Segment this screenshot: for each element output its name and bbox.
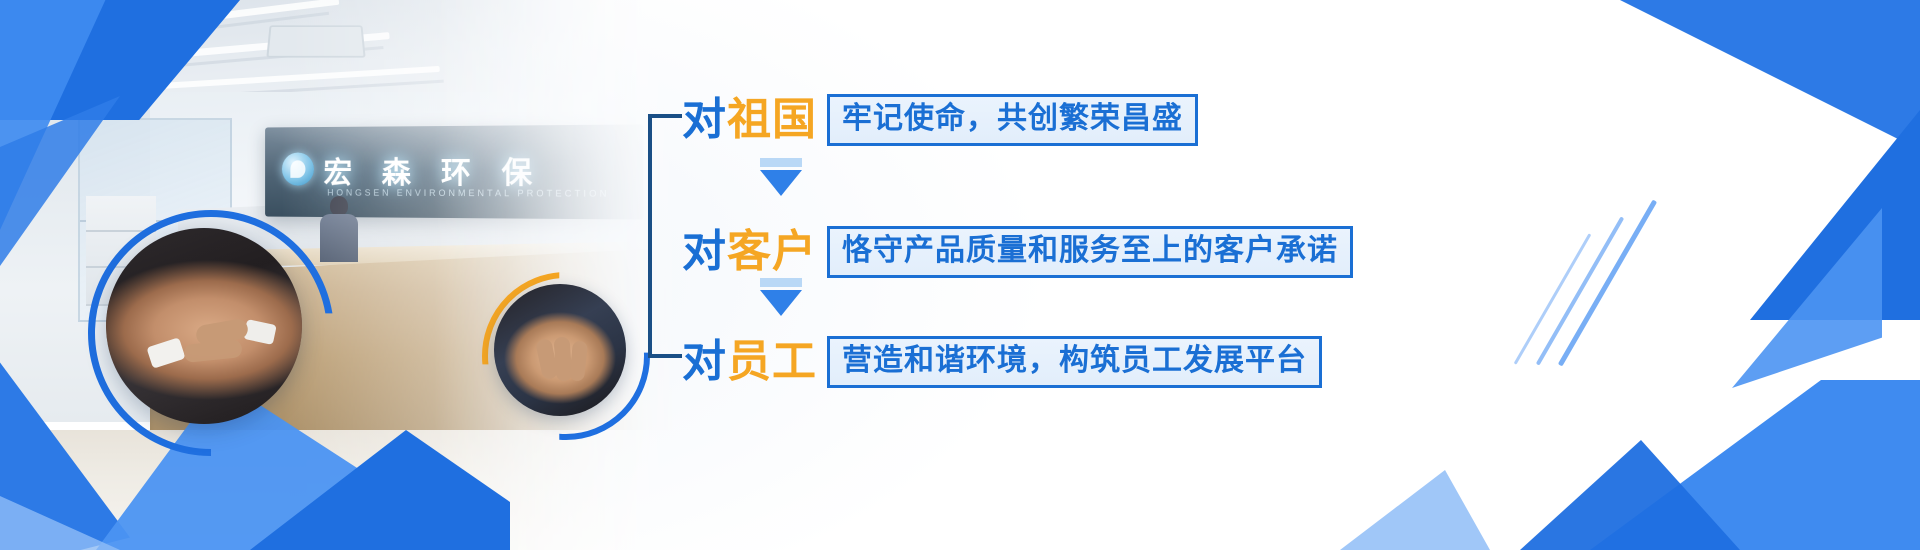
applause-image bbox=[494, 284, 626, 416]
hand-shape bbox=[184, 339, 244, 363]
row-lead-prefix: 对 bbox=[682, 226, 727, 277]
commitment-list: 对祖国 牢记使命，共创繁荣昌盛 对客户 恪守产品质量和服务至上的客户承诺 对员工… bbox=[648, 78, 1368, 394]
commitment-row-employee: 对员工 营造和谐环境，构筑员工发展平台 bbox=[682, 336, 1322, 388]
commitment-row-customer: 对客户 恪守产品质量和服务至上的客户承诺 bbox=[682, 226, 1353, 278]
row-lead-customer: 对客户 bbox=[682, 230, 817, 274]
chevron-down-arrow-cap-icon bbox=[760, 278, 802, 287]
corporate-culture-banner: 宏 森 环 保 HONGSEN ENVIRONMENTAL PROTECTION bbox=[0, 0, 1920, 550]
row-lead-subject: 员工 bbox=[727, 336, 817, 387]
shirt-cuff bbox=[147, 337, 186, 368]
row-lead-prefix: 对 bbox=[682, 336, 727, 387]
row-lead-subject: 祖国 bbox=[727, 94, 817, 145]
hand-shape bbox=[568, 340, 587, 381]
commitment-row-country: 对祖国 牢记使命，共创繁荣昌盛 bbox=[682, 94, 1198, 146]
row-statement-customer: 恪守产品质量和服务至上的客户承诺 bbox=[827, 226, 1353, 278]
row-statement-employee: 营造和谐环境，构筑员工发展平台 bbox=[827, 336, 1322, 388]
chevron-down-arrow-icon bbox=[760, 290, 802, 316]
shirt-cuff bbox=[243, 319, 277, 345]
left-bracket-connector-icon bbox=[648, 114, 682, 358]
handshake-photo bbox=[106, 228, 302, 424]
applause-photo bbox=[494, 284, 626, 416]
handshake-image bbox=[106, 228, 302, 424]
row-lead-employee: 对员工 bbox=[682, 340, 817, 384]
row-lead-country: 对祖国 bbox=[682, 98, 817, 142]
row-lead-prefix: 对 bbox=[682, 94, 727, 145]
row-lead-subject: 客户 bbox=[727, 226, 817, 277]
row-statement-country: 牢记使命，共创繁荣昌盛 bbox=[827, 94, 1198, 146]
chevron-down-arrow-icon bbox=[760, 170, 802, 196]
chevron-down-arrow-cap-icon bbox=[760, 158, 802, 167]
